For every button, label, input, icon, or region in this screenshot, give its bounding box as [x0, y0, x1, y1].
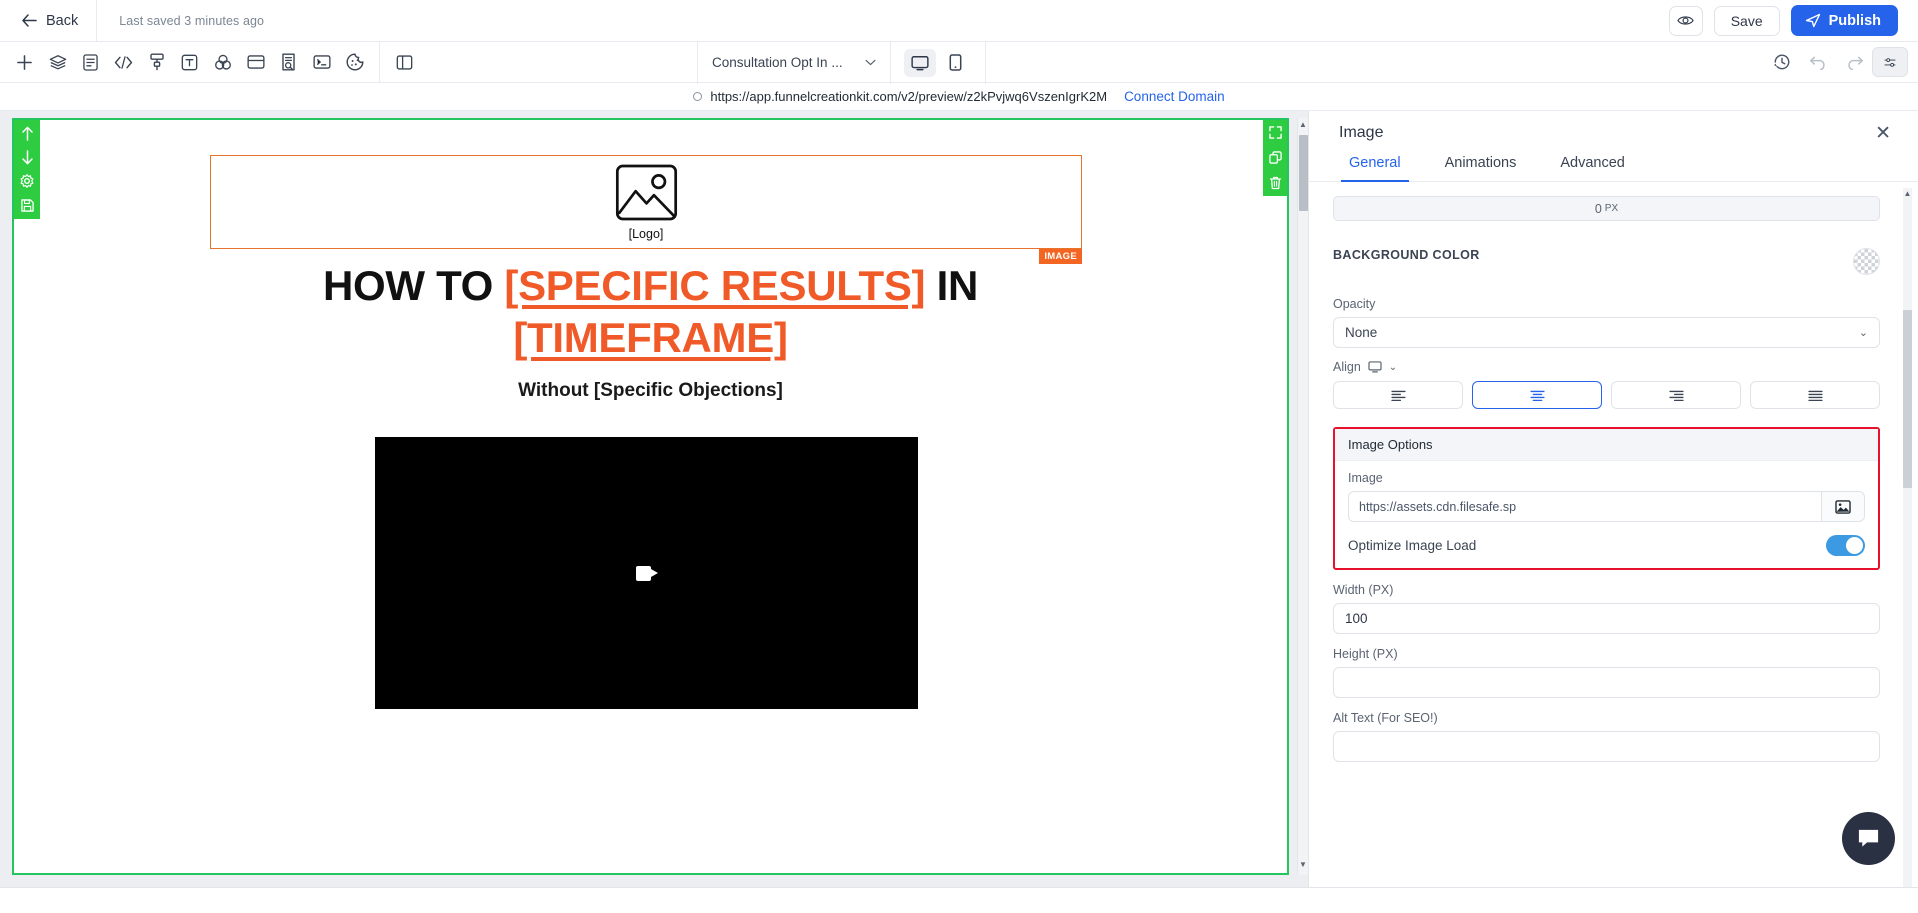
preview-url[interactable]: https://app.funnelcreationkit.com/v2/pre…	[693, 89, 1107, 104]
align-right-button[interactable]	[1611, 381, 1741, 409]
background-color-swatch[interactable]	[1853, 248, 1880, 275]
headline-highlight-1: [SPECIFIC RESULTS]	[504, 262, 925, 309]
add-element-icon[interactable]	[8, 47, 41, 77]
page-selector[interactable]: Consultation Opt In ...	[698, 42, 890, 83]
width-input[interactable]: 100	[1333, 603, 1880, 634]
width-field-group: Width (PX) 100	[1333, 583, 1880, 634]
toggle-knob	[1846, 537, 1863, 554]
panel-tabs: General Animations Advanced	[1309, 155, 1918, 182]
move-up-icon[interactable]	[19, 125, 35, 141]
tab-animations[interactable]: Animations	[1423, 155, 1539, 181]
image-url-row: https://assets.cdn.filesafe.sp	[1348, 491, 1865, 522]
image-options-body: Image https://assets.cdn.filesafe.sp	[1335, 461, 1878, 568]
opacity-label: Opacity	[1333, 297, 1880, 311]
tool-icons-group	[0, 42, 421, 83]
funnel-editor-app: Back Last saved 3 minutes ago Save Publi…	[0, 0, 1918, 913]
section-toolbar-right	[1263, 120, 1287, 196]
tracking-code-icon[interactable]	[305, 47, 338, 77]
padding-unit: PX	[1605, 203, 1618, 214]
align-header: Align ⌄	[1333, 360, 1880, 374]
canvas-area: [Logo] IMAGE HOW TO [SPECIFIC RESULTS] I…	[0, 111, 1308, 887]
device-toggle-group	[891, 42, 985, 83]
align-right-icon	[1669, 390, 1684, 401]
panel-toggle-icon[interactable]	[388, 47, 421, 77]
editor-toolbar: Consultation Opt In ...	[0, 42, 1918, 83]
caret-up-icon[interactable]: ▲	[1299, 118, 1307, 132]
properties-panel: Image ✕ General Animations Advanced 0 PX…	[1308, 111, 1918, 887]
text-styles-icon[interactable]	[173, 47, 206, 77]
align-options-row	[1333, 381, 1880, 409]
page-content-icon[interactable]	[74, 47, 107, 77]
editor-settings-icon[interactable]	[1872, 47, 1908, 77]
expand-icon[interactable]	[1268, 125, 1283, 140]
logo-image-element[interactable]: [Logo] IMAGE	[210, 155, 1082, 249]
chat-bubble-icon	[1856, 827, 1881, 850]
seo-icon[interactable]	[272, 47, 305, 77]
chevron-down-icon[interactable]: ⌄	[1389, 362, 1397, 373]
top-bar: Back Last saved 3 minutes ago Save Publi…	[0, 0, 1918, 42]
back-label: Back	[46, 13, 78, 29]
caret-down-icon[interactable]: ▼	[1299, 858, 1307, 872]
desktop-view-button[interactable]	[904, 49, 936, 77]
page-content: [Logo] IMAGE HOW TO [SPECIFIC RESULTS] I…	[14, 120, 1287, 873]
section-toolbar-left	[14, 120, 40, 219]
opacity-select[interactable]: None ⌄	[1333, 317, 1880, 348]
panel-title: Image	[1339, 124, 1383, 142]
background-color-label: BACKGROUND COLOR	[1333, 248, 1480, 264]
tab-advanced[interactable]: Advanced	[1538, 155, 1647, 181]
toolbar-right-actions	[1764, 47, 1918, 77]
section-settings-icon[interactable]	[19, 173, 35, 189]
panel-scrollbar[interactable]: ▲	[1903, 188, 1912, 887]
logo-caption: [Logo]	[629, 227, 664, 241]
optimize-image-toggle[interactable]	[1826, 535, 1865, 556]
cookies-icon[interactable]	[338, 47, 371, 77]
background-color-row: BACKGROUND COLOR	[1333, 248, 1880, 275]
bottom-bar	[0, 887, 1918, 913]
preview-url-text: https://app.funnelcreationkit.com/v2/pre…	[710, 89, 1107, 104]
delete-icon[interactable]	[1268, 175, 1283, 190]
height-field-group: Height (PX)	[1333, 647, 1880, 698]
optimize-image-row: Optimize Image Load	[1348, 535, 1865, 556]
canvas-scrollbar[interactable]: ▲ ▼	[1297, 118, 1308, 875]
mobile-icon	[949, 54, 962, 71]
arrow-left-icon	[22, 14, 37, 27]
tab-general[interactable]: General	[1327, 155, 1423, 181]
image-picker-icon	[1835, 500, 1851, 514]
chevron-down-icon	[865, 59, 876, 66]
move-down-icon[interactable]	[19, 149, 35, 165]
image-placeholder-icon	[615, 164, 678, 221]
editor-body: [Logo] IMAGE HOW TO [SPECIFIC RESULTS] I…	[0, 111, 1918, 887]
last-saved-status: Last saved 3 minutes ago	[97, 14, 264, 28]
colors-icon[interactable]	[206, 47, 239, 77]
headline-highlight-2: [TIMEFRAME]	[513, 314, 787, 361]
headline-part2: IN	[925, 262, 978, 309]
center-controls: Consultation Opt In ...	[697, 42, 986, 83]
image-field-label: Image	[1348, 471, 1865, 485]
eye-icon	[1677, 14, 1694, 27]
publish-label: Publish	[1829, 13, 1881, 29]
divider	[985, 42, 986, 84]
alt-text-input[interactable]	[1333, 731, 1880, 762]
publish-button[interactable]: Publish	[1791, 5, 1898, 36]
alt-text-field-group: Alt Text (For SEO!)	[1333, 711, 1880, 762]
preview-button[interactable]	[1669, 6, 1703, 36]
image-options-section: Image Options Image https://assets.cdn.f…	[1333, 427, 1880, 570]
optimize-image-label: Optimize Image Load	[1348, 538, 1476, 553]
desktop-icon	[1368, 361, 1382, 373]
align-center-icon	[1530, 390, 1545, 401]
custom-code-icon[interactable]	[107, 47, 140, 77]
align-justify-icon	[1808, 390, 1823, 401]
subheadline-element[interactable]: Without [Specific Objections]	[14, 380, 1287, 402]
theme-icon[interactable]	[140, 47, 173, 77]
mobile-view-button[interactable]	[940, 49, 972, 77]
page-name-label: Consultation Opt In ...	[712, 55, 843, 70]
save-section-icon[interactable]	[19, 197, 35, 213]
panel-header: Image ✕	[1309, 111, 1918, 155]
image-picker-button[interactable]	[1821, 491, 1865, 522]
align-left-icon	[1391, 390, 1406, 401]
close-icon[interactable]: ✕	[1875, 124, 1891, 143]
caret-up-icon[interactable]: ▲	[1903, 188, 1912, 198]
desktop-icon	[911, 55, 929, 71]
chevron-down-icon: ⌄	[1859, 326, 1868, 339]
panel-content: 0 PX BACKGROUND COLOR Opacity None ⌄ Ali…	[1309, 182, 1918, 887]
headline-part1: HOW TO	[323, 262, 504, 309]
video-camera-icon	[636, 566, 658, 581]
panel-scrollbar-thumb[interactable]	[1903, 310, 1912, 488]
alt-text-label: Alt Text (For SEO!)	[1333, 711, 1880, 725]
send-icon	[1805, 13, 1821, 28]
redo-icon[interactable]	[1836, 47, 1872, 77]
popup-icon[interactable]	[239, 47, 272, 77]
connect-domain-link[interactable]: Connect Domain	[1124, 89, 1225, 104]
revision-history-icon[interactable]	[1764, 47, 1800, 77]
image-url-input[interactable]: https://assets.cdn.filesafe.sp	[1348, 491, 1821, 522]
divider	[379, 42, 380, 83]
top-bar-actions: Save Publish	[1669, 5, 1918, 36]
video-element[interactable]	[375, 437, 918, 709]
scrollbar-thumb[interactable]	[1299, 135, 1308, 211]
opacity-value: None	[1345, 325, 1377, 340]
circle-icon	[693, 92, 702, 101]
align-justify-button[interactable]	[1750, 381, 1880, 409]
align-label: Align	[1333, 360, 1361, 374]
width-label: Width (PX)	[1333, 583, 1880, 597]
save-button[interactable]: Save	[1714, 6, 1780, 36]
duplicate-icon[interactable]	[1268, 150, 1283, 165]
height-label: Height (PX)	[1333, 647, 1880, 661]
height-input[interactable]	[1333, 667, 1880, 698]
back-button[interactable]: Back	[0, 0, 96, 41]
padding-value-field[interactable]: 0 PX	[1333, 196, 1880, 221]
padding-value: 0	[1595, 202, 1602, 216]
align-left-button[interactable]	[1333, 381, 1463, 409]
headline-element[interactable]: HOW TO [SPECIFIC RESULTS] IN [TIMEFRAME]	[14, 260, 1287, 364]
page-canvas[interactable]: [Logo] IMAGE HOW TO [SPECIFIC RESULTS] I…	[12, 118, 1289, 875]
align-center-button[interactable]	[1472, 381, 1602, 409]
layers-icon[interactable]	[41, 47, 74, 77]
preview-url-bar: https://app.funnelcreationkit.com/v2/pre…	[0, 83, 1918, 111]
undo-icon[interactable]	[1800, 47, 1836, 77]
chat-support-button[interactable]	[1842, 812, 1895, 865]
image-options-title: Image Options	[1335, 429, 1878, 461]
